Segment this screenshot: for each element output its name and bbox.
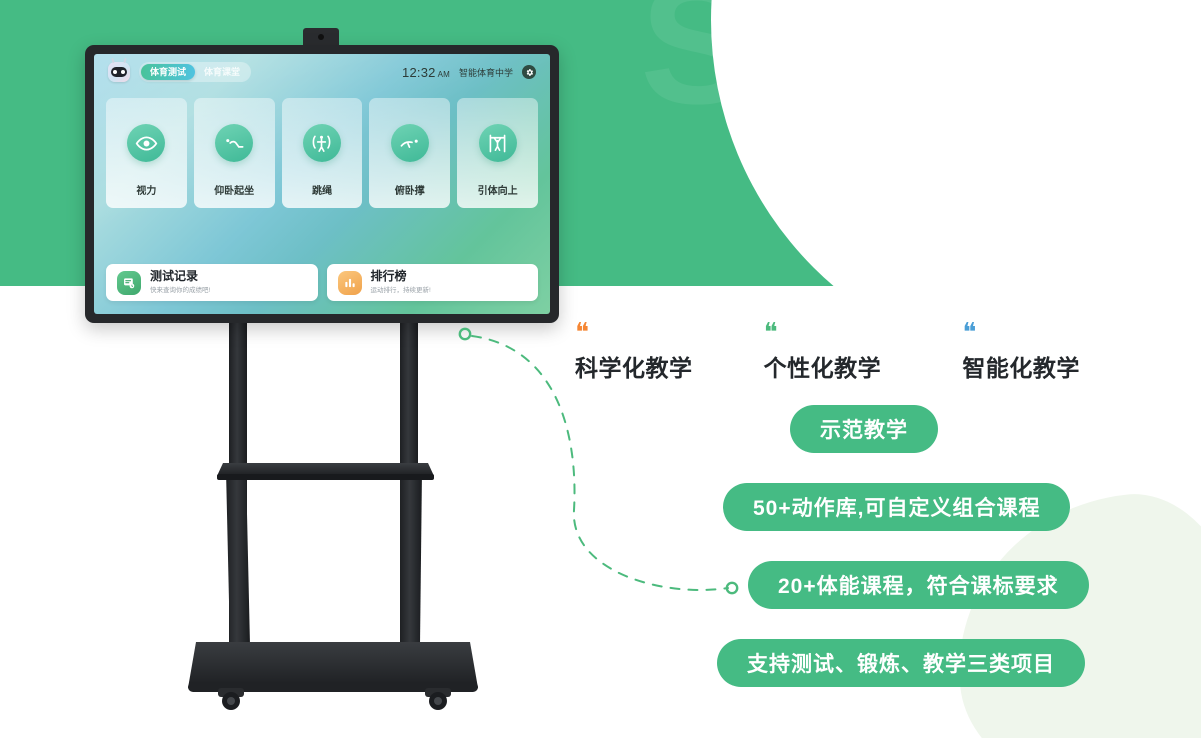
shortcut-subtitle: 快来查询你的成绩吧!: [150, 287, 210, 294]
pill-row: 支持测试、锻炼、教学三类项目: [575, 639, 1135, 687]
shortcut-test-records[interactable]: 测试记录 快来查询你的成绩吧!: [106, 264, 318, 301]
connector-endpoint-start: [460, 329, 470, 339]
tab-sports-test[interactable]: 体育测试: [141, 64, 195, 80]
pullup-icon: [479, 124, 517, 162]
robot-eye-left-icon: [113, 70, 117, 74]
clock-meridiem: AM: [438, 70, 450, 79]
clock: 12:32AM: [402, 65, 450, 80]
test-card-label: 视力: [136, 182, 156, 197]
clock-time: 12:32: [402, 65, 436, 80]
screen-tab-bar[interactable]: 体育测试 体育课堂: [139, 62, 251, 82]
test-card-label: 俯卧撑: [395, 182, 425, 197]
pushup-icon: [391, 124, 429, 162]
test-card-situp[interactable]: 仰卧起坐: [194, 98, 275, 208]
test-card-jumprope[interactable]: 跳绳: [282, 98, 363, 208]
screen-topbar: 体育测试 体育课堂 12:32AM 智能体育中学: [94, 54, 550, 90]
quote-mark-icon: ❝: [764, 325, 937, 339]
shortcut-leaderboard[interactable]: 排行榜 运动排行，持续更新!: [327, 264, 539, 301]
situp-icon: [215, 124, 253, 162]
quote-mark-icon: ❝: [962, 325, 1135, 339]
jumprope-icon: [303, 124, 341, 162]
pill-row: 示范教学: [575, 405, 1135, 453]
hero-text-block: AI体育教学机 - Product Display -: [690, 52, 1120, 163]
tv-bezel: 体育测试 体育课堂 12:32AM 智能体育中学: [85, 45, 559, 323]
hero-title: AI体育教学机: [690, 52, 1120, 119]
feature-scientific: ❝ 科学化教学: [575, 325, 748, 383]
records-icon: [117, 271, 141, 295]
test-card-pushup[interactable]: 俯卧撑: [369, 98, 450, 208]
robot-avatar-icon: [108, 62, 130, 82]
feature-headings: ❝ 科学化教学 ❝ 个性化教学 ❝ 智能化教学: [575, 325, 1135, 383]
test-card-label: 引体向上: [478, 182, 518, 197]
gear-icon[interactable]: [522, 65, 536, 79]
eye-icon: [127, 124, 165, 162]
test-card-label: 跳绳: [312, 182, 332, 197]
pill-row: 20+体能课程，符合课标要求: [575, 561, 1135, 609]
shortcut-title: 测试记录: [150, 270, 210, 284]
feature-pill-three-categories[interactable]: 支持测试、锻炼、教学三类项目: [717, 639, 1085, 687]
test-card-vision[interactable]: 视力: [106, 98, 187, 208]
feature-title: 科学化教学: [575, 349, 748, 383]
pill-row: 50+动作库,可自定义组合课程: [575, 483, 1135, 531]
test-card-label: 仰卧起坐: [214, 182, 254, 197]
robot-antenna-left-icon: [111, 58, 114, 63]
shortcut-title: 排行榜: [371, 270, 431, 284]
screen-topbar-right: 12:32AM 智能体育中学: [402, 65, 536, 80]
screen-shortcut-row: 测试记录 快来查询你的成绩吧! 排行榜 运动排行，持续更新!: [106, 264, 538, 301]
tab-sports-class[interactable]: 体育课堂: [195, 64, 249, 80]
feature-pill-action-library[interactable]: 50+动作库,可自定义组合课程: [723, 483, 1070, 531]
feature-title: 智能化教学: [962, 349, 1135, 383]
hero-subtitle: - Product Display -: [690, 129, 1120, 163]
feature-intelligent: ❝ 智能化教学: [936, 325, 1135, 383]
feature-pill-list: 示范教学 50+动作库,可自定义组合课程 20+体能课程，符合课标要求 支持测试…: [575, 405, 1135, 687]
feature-personalized: ❝ 个性化教学: [748, 325, 937, 383]
product-display-poster: SPORTS AI体育教学机 - Product Display -: [0, 0, 1201, 738]
robot-eye-right-icon: [121, 70, 125, 74]
feature-title: 个性化教学: [764, 349, 937, 383]
quote-mark-icon: ❝: [575, 325, 748, 339]
camera-module-icon: [303, 28, 339, 46]
feature-heading-row: ❝ 科学化教学 ❝ 个性化教学 ❝ 智能化教学: [575, 325, 1135, 383]
test-card-pullup[interactable]: 引体向上: [457, 98, 538, 208]
bar-chart-icon: [338, 271, 362, 295]
robot-antenna-right-icon: [123, 58, 126, 63]
feature-pill-demo-teaching[interactable]: 示范教学: [790, 405, 938, 453]
shortcut-texts: 测试记录 快来查询你的成绩吧!: [150, 270, 210, 294]
shortcut-texts: 排行榜 运动排行，持续更新!: [371, 270, 431, 294]
white-circle-decor: [0, 288, 298, 738]
school-name: 智能体育中学: [459, 66, 513, 79]
feature-pill-fitness-courses[interactable]: 20+体能课程，符合课标要求: [748, 561, 1089, 609]
robot-visor-icon: [111, 67, 127, 77]
tv-screen: 体育测试 体育课堂 12:32AM 智能体育中学: [94, 54, 550, 314]
shortcut-subtitle: 运动排行，持续更新!: [371, 287, 431, 294]
test-item-cards: 视力 仰卧起坐 跳绳: [106, 98, 538, 208]
